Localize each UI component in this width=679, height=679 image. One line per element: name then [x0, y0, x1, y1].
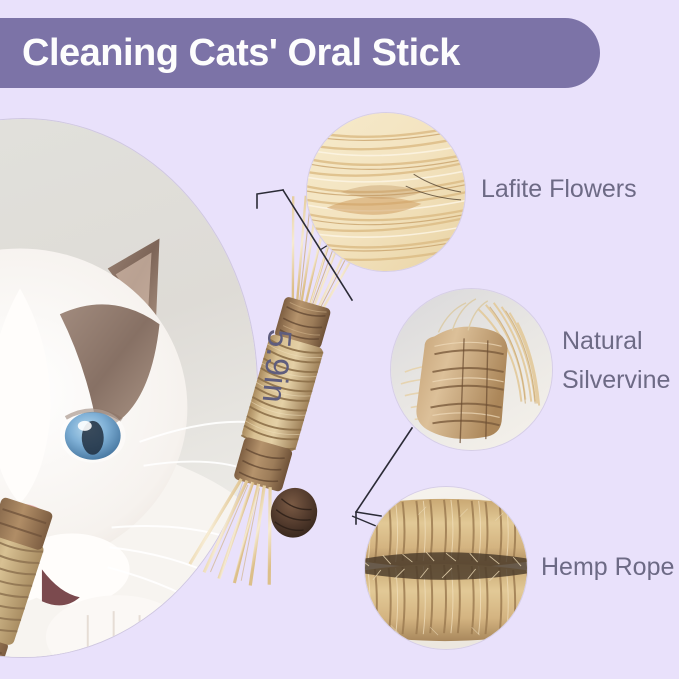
- hemp-rope-texture: [365, 487, 527, 649]
- hero-cat-photo: [0, 118, 258, 658]
- feature-swatch-hemp: [364, 486, 528, 650]
- silvervine-bud: [265, 482, 323, 543]
- feature-label-silvervine-line2: Silvervine: [562, 361, 670, 400]
- lafite-flowers-texture: [307, 113, 465, 271]
- feature-swatch-silvervine: [390, 288, 553, 451]
- feature-label-hemp: Hemp Rope: [541, 548, 674, 587]
- feature-label-silvervine: Natural Silvervine: [562, 322, 670, 400]
- feature-label-lafite-line1: Lafite Flowers: [481, 170, 637, 209]
- feature-label-lafite: Lafite Flowers: [481, 170, 637, 209]
- cat-photo-illustration: [0, 119, 257, 657]
- natural-silvervine-texture: [391, 289, 552, 450]
- product-infographic: Cleaning Cats' Oral Stick: [0, 0, 679, 679]
- page-title: Cleaning Cats' Oral Stick: [22, 32, 460, 75]
- feature-label-hemp-line1: Hemp Rope: [541, 548, 674, 587]
- dimension-label: 5.9in: [255, 328, 299, 405]
- feature-label-silvervine-line1: Natural: [562, 322, 670, 361]
- feature-swatch-lafite: [306, 112, 466, 272]
- title-banner: Cleaning Cats' Oral Stick: [0, 18, 600, 88]
